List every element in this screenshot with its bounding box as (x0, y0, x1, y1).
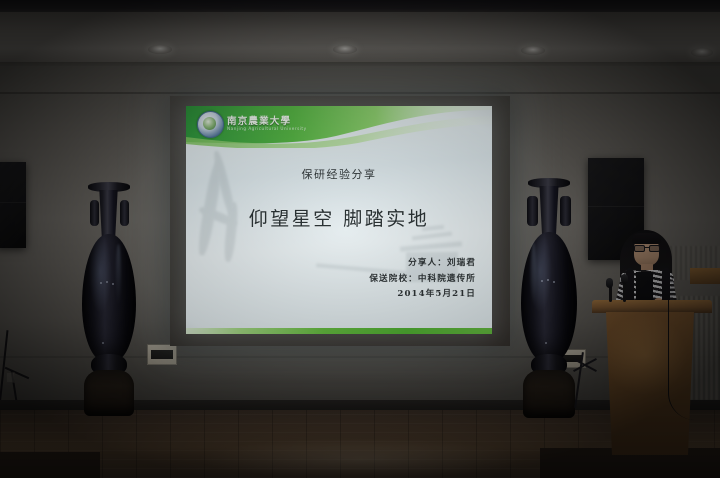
microphone-stem[interactable] (623, 282, 626, 302)
speaker-seam (0, 202, 26, 203)
slide-meta-institution: 保送院校：中科院遗传所 (246, 272, 476, 288)
ceiling-downlight-1 (148, 45, 172, 54)
vase-handle-right-right (560, 196, 571, 226)
wall-panel-face (151, 350, 173, 359)
wall-seam-upper (0, 92, 720, 94)
lecture-hall-photo: 南京農業大學 Nanjing Agricultural University 保… (0, 0, 720, 478)
vase-glaze-fleck-3 (112, 283, 114, 285)
ceiling-panel (0, 12, 720, 64)
vase-body (82, 234, 136, 362)
vase-wooden-base (84, 370, 134, 416)
vase-wooden-base-right (523, 370, 575, 418)
vase-glaze-fleck-2 (106, 281, 108, 283)
slide-subtitle: 保研经验分享 (186, 166, 492, 182)
vase-glaze-fleck-r1 (541, 280, 543, 282)
microphone-head-icon (621, 274, 628, 284)
vase-glaze-fleck-r2 (547, 279, 549, 281)
university-name-en: Nanjing Agricultural University (227, 126, 307, 131)
slide-meta-block: 分享人：刘瑞君 保送院校：中科院遗传所 2014年5月21日 (246, 256, 476, 303)
side-desk (690, 268, 720, 284)
ceiling-downlight-3 (521, 46, 545, 55)
glasses-lens-right (649, 245, 660, 252)
presenter-glasses-icon (634, 245, 659, 250)
slide-footer-bar (186, 328, 492, 334)
slide-meta-presenter: 分享人：刘瑞君 (246, 256, 476, 272)
university-name-cn: 南京農業大學 (227, 113, 291, 127)
vase-body-right (521, 232, 577, 362)
slide-title: 仰望星空 脚踏实地 (186, 204, 492, 231)
slide-meta-date: 2014年5月21日 (246, 287, 476, 303)
vase-highlight-right (531, 242, 536, 308)
microphone-stem-2[interactable] (609, 286, 612, 302)
right-floor-vase (517, 178, 581, 420)
floor-reflection (150, 430, 570, 478)
vase-handle-right-left (527, 196, 538, 226)
ceiling-downlight-4 (691, 48, 713, 57)
vase-highlight (116, 244, 121, 306)
speaker-seam-right (588, 206, 644, 207)
vase-handle-right (120, 200, 129, 226)
glasses-bridge (644, 247, 649, 248)
wall-outlet[interactable] (6, 372, 15, 383)
ceiling-downlight-2 (333, 45, 357, 54)
vase-glaze-fleck-r3 (553, 281, 555, 283)
floor-bench-left (0, 452, 100, 478)
slide-header-banner: 南京農業大學 Nanjing Agricultural University (186, 106, 492, 148)
vase-glaze-fleck-1 (100, 282, 102, 284)
vase-handle-left (90, 200, 99, 226)
presenter-bangs (632, 233, 661, 244)
university-crest-icon (197, 111, 224, 138)
presentation-slide: 南京農業大學 Nanjing Agricultural University 保… (186, 106, 492, 334)
vase-glaze-fleck-4 (102, 342, 104, 344)
vase-glaze-fleck-r4 (545, 342, 547, 344)
left-floor-vase (78, 182, 140, 418)
microphone-head-icon-2 (606, 278, 613, 288)
microphone-cable (668, 300, 695, 420)
left-wall-speaker (0, 162, 26, 248)
wall-control-panel[interactable] (147, 344, 177, 365)
